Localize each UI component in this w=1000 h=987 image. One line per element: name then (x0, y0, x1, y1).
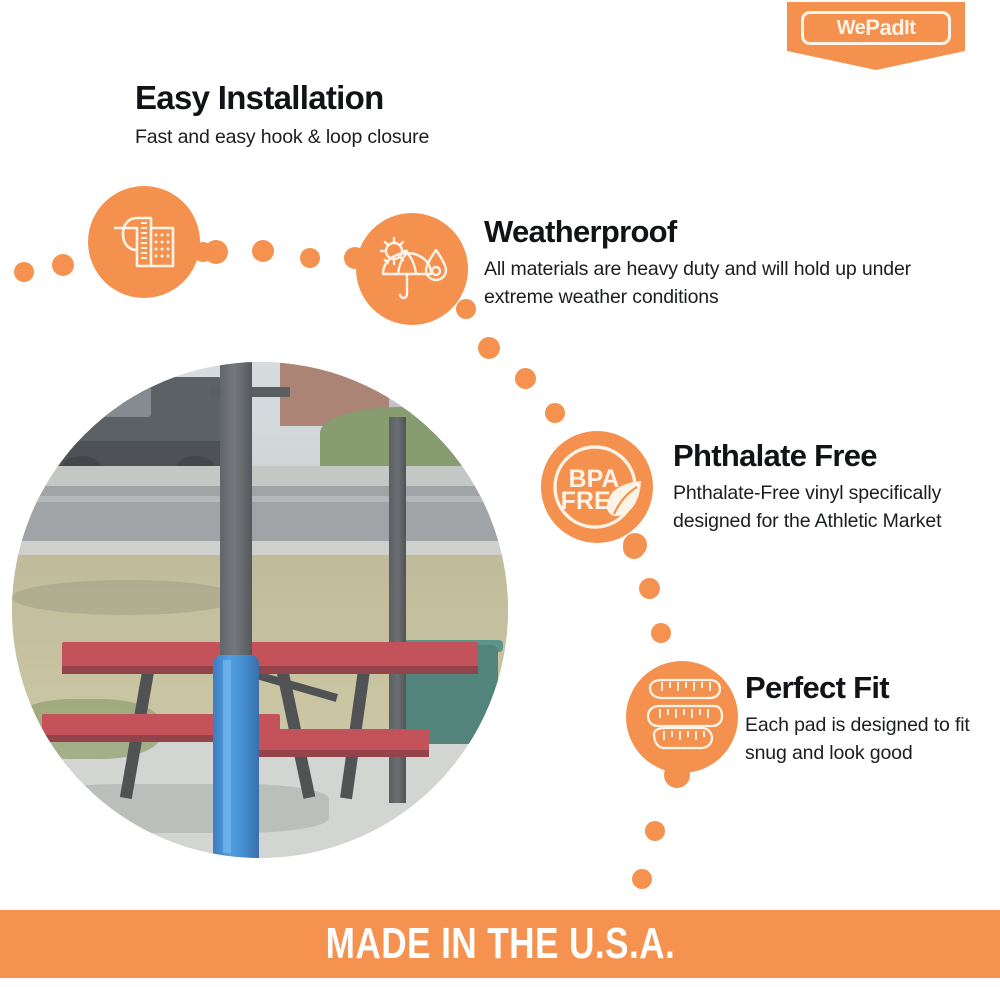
trail-dot (545, 403, 565, 423)
bubble-blob-accent (664, 762, 690, 788)
bubble-blob-accent (344, 247, 366, 269)
made-in-usa-text: MADE IN THE U.S.A. (325, 919, 674, 969)
bubble-blob-accent (193, 242, 213, 262)
trail-dot (639, 578, 660, 599)
trail-dot (478, 337, 500, 359)
feature-block-weatherproof: Weatherproof All materials are heavy dut… (484, 214, 914, 311)
logo-text-it: It (904, 17, 915, 40)
feature-block-easy-installation: Easy Installation Fast and easy hook & l… (135, 79, 429, 152)
trail-dot (651, 623, 671, 643)
trail-dot (14, 262, 34, 282)
trail-dot (645, 821, 665, 841)
sun-umbrella-raindrop-icon (356, 213, 468, 325)
brand-logo-frame: We Pad It (801, 11, 951, 45)
trail-dot (632, 869, 652, 889)
feature-title: Phthalate Free (673, 438, 983, 474)
trail-dot (52, 254, 74, 276)
trail-dot (515, 368, 536, 389)
bubble-blob-accent (623, 533, 647, 557)
feature-description: Fast and easy hook & loop closure (135, 124, 429, 152)
feature-block-perfect-fit: Perfect Fit Each pad is designed to fit … (745, 670, 980, 767)
measuring-tape-icon (626, 661, 738, 773)
feature-title: Weatherproof (484, 214, 914, 250)
hook-and-loop-icon (88, 186, 200, 298)
feature-block-phthalate-free: Phthalate Free Phthalate-Free vinyl spec… (673, 438, 983, 535)
logo-text-pad: Pad (865, 15, 904, 41)
trail-dot (300, 248, 320, 268)
photo-overlay (12, 362, 508, 858)
feature-description: Phthalate-Free vinyl specifically design… (673, 480, 983, 535)
trail-dot (252, 240, 274, 262)
feature-description: All materials are heavy duty and will ho… (484, 256, 914, 311)
brand-logo-badge: We Pad It (787, 2, 965, 70)
feature-title: Easy Installation (135, 79, 429, 117)
bubble-blob-accent (456, 299, 476, 319)
feature-title: Perfect Fit (745, 670, 980, 706)
logo-text-we: We (837, 17, 866, 40)
bpa-free-leaf-icon: BPA FREE (541, 431, 653, 543)
made-in-usa-banner: MADE IN THE U.S.A. (0, 910, 1000, 978)
feature-description: Each pad is designed to fit snug and loo… (745, 712, 980, 767)
product-photo (12, 362, 508, 858)
